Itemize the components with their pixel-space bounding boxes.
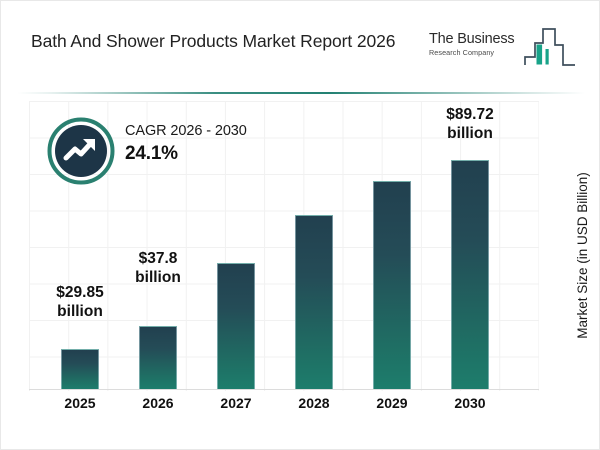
header-divider	[17, 92, 585, 94]
cagr-text-block: CAGR 2026 - 2030 24.1%	[125, 123, 295, 165]
x-tick-2030: 2030	[424, 395, 516, 411]
trend-up-arrow-icon	[47, 117, 115, 185]
y-axis-title-text: Market Size (in USD Billion)	[575, 172, 590, 339]
bar-2028	[295, 215, 333, 389]
chart-card: Bath And Shower Products Market Report 2…	[0, 0, 600, 450]
cagr-period-label: CAGR 2026 - 2030	[125, 123, 295, 139]
bar-value-label-2026-line1: $37.8	[112, 249, 204, 268]
company-logo: The Business Research Company	[429, 23, 579, 75]
x-axis-tick-labels: 2025 2026 2027 2028 2029 2030	[29, 395, 539, 419]
bar-2025	[61, 349, 99, 389]
bar-value-label-2030-line2: billion	[424, 124, 516, 143]
bar-value-label-2025: $29.85 billion	[34, 283, 126, 322]
cagr-callout: CAGR 2026 - 2030 24.1%	[47, 117, 287, 187]
bar-value-label-2030-line1: $89.72	[424, 105, 516, 124]
report-header: Bath And Shower Products Market Report 2…	[1, 1, 600, 93]
bar-value-label-2026: $37.8 billion	[112, 249, 204, 288]
bar-2029	[373, 181, 411, 389]
y-axis-title: Market Size (in USD Billion)	[571, 121, 593, 389]
logo-line-1: The Business	[429, 31, 525, 47]
bar-2030	[451, 160, 489, 389]
logo-wordmark: The Business Research Company	[429, 31, 525, 57]
x-axis-baseline	[29, 389, 539, 390]
logo-line-2: Research Company	[429, 48, 525, 57]
bar-chart-logo-icon	[521, 23, 579, 71]
bar-2027	[217, 263, 255, 389]
bar-value-label-2030: $89.72 billion	[424, 105, 516, 144]
page-title: Bath And Shower Products Market Report 2…	[31, 29, 421, 54]
bar-value-label-2025-line2: billion	[34, 302, 126, 321]
bar-value-label-2026-line2: billion	[112, 268, 204, 287]
bar-2026	[139, 326, 177, 389]
cagr-value: 24.1%	[125, 143, 295, 165]
